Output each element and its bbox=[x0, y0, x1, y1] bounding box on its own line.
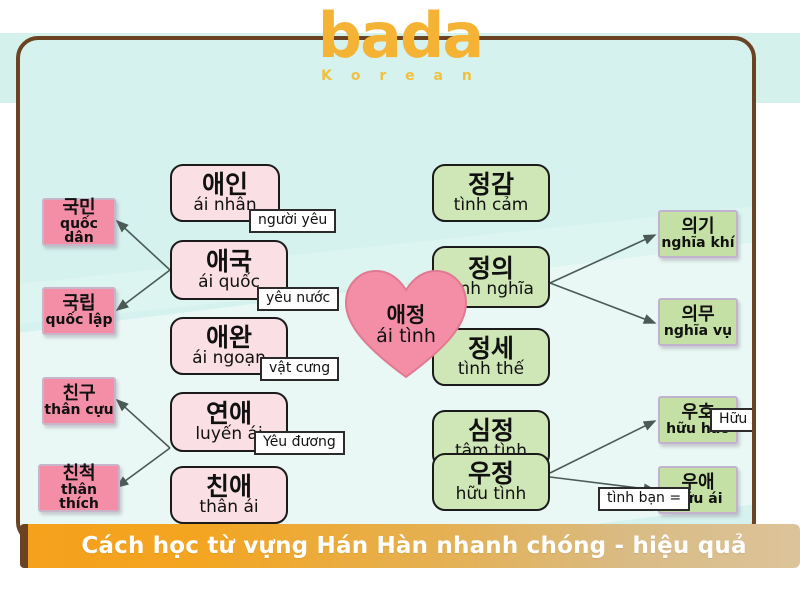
chip-right-1-kr: 의기 bbox=[681, 218, 714, 236]
node-right-1[interactable]: 정감 tình cảm bbox=[432, 164, 550, 222]
chip-left-4-kr: 친척 bbox=[62, 465, 95, 483]
node-left-5-vn: thân ái bbox=[199, 499, 258, 516]
bottom-banner: Cách học từ vựng Hán Hàn nhanh chóng - h… bbox=[28, 524, 800, 568]
chip-left-3[interactable]: 친구 thân cựu bbox=[42, 377, 116, 425]
tag-vat-cung[interactable]: vật cưng bbox=[260, 357, 339, 381]
chip-left-1-vn: quốc dân bbox=[44, 217, 114, 246]
node-left-1-vn: ái nhân bbox=[193, 197, 256, 214]
chip-left-2-kr: 국립 bbox=[62, 295, 95, 313]
chip-right-1[interactable]: 의기 nghĩa khí bbox=[658, 210, 738, 258]
node-right-1-vn: tình cảm bbox=[454, 197, 529, 214]
node-left-1-kr: 애인 bbox=[202, 172, 248, 198]
node-left-2-kr: 애국 bbox=[206, 249, 252, 275]
chip-left-2-vn: quốc lập bbox=[45, 313, 112, 327]
node-right-4-kr: 심정 bbox=[468, 418, 514, 444]
chip-left-2[interactable]: 국립 quốc lập bbox=[42, 287, 116, 335]
node-left-5[interactable]: 친애 thân ái bbox=[170, 466, 288, 524]
node-left-3-vn: ái ngoạn bbox=[192, 350, 266, 367]
chip-left-4[interactable]: 친척 thân thích bbox=[38, 464, 120, 512]
chip-right-2-kr: 의무 bbox=[681, 306, 714, 324]
node-left-5-kr: 친애 bbox=[206, 474, 252, 500]
chip-left-1-kr: 국민 bbox=[62, 199, 95, 217]
node-right-2-kr: 정의 bbox=[468, 256, 514, 282]
tag-tinh-ban[interactable]: tình bạn = bbox=[598, 487, 690, 511]
infographic-canvas: bada K o r e a n bbox=[0, 0, 800, 600]
mindmap-frame: 국민 quốc dân 국립 quốc lập 친구 thân cựu 친척 t… bbox=[16, 36, 756, 544]
chip-right-2-vn: nghĩa vụ bbox=[664, 324, 732, 338]
tag-yeu-nuoc[interactable]: yêu nước bbox=[257, 287, 339, 311]
chip-left-3-vn: thân cựu bbox=[44, 403, 113, 417]
node-left-3-kr: 애완 bbox=[206, 325, 252, 351]
chip-left-3-kr: 친구 bbox=[62, 385, 95, 403]
tag-nguoi-yeu[interactable]: người yêu bbox=[249, 209, 336, 233]
heart-icon bbox=[342, 264, 470, 382]
tag-yeu-duong[interactable]: Yêu đương bbox=[254, 431, 345, 455]
node-left-4-vn: luyến ái bbox=[195, 426, 262, 443]
node-right-5-kr: 우정 bbox=[468, 461, 514, 487]
node-right-1-kr: 정감 bbox=[468, 172, 514, 198]
node-right-5[interactable]: 우정 hữu tình bbox=[432, 453, 550, 511]
center-heart[interactable]: 애정 ái tình bbox=[342, 264, 470, 382]
node-right-5-vn: hữu tình bbox=[456, 486, 527, 503]
node-right-3-kr: 정세 bbox=[468, 336, 514, 362]
chip-left-1[interactable]: 국민 quốc dân bbox=[42, 198, 116, 246]
chip-right-1-vn: nghĩa khí bbox=[661, 236, 734, 250]
node-left-2-vn: ái quốc bbox=[198, 274, 260, 291]
chip-right-2[interactable]: 의무 nghĩa vụ bbox=[658, 298, 738, 346]
chip-left-4-vn: thân thích bbox=[40, 483, 118, 512]
banner-title: Cách học từ vựng Hán Hàn nhanh chóng - h… bbox=[81, 533, 746, 559]
node-left-4-kr: 연애 bbox=[206, 401, 252, 427]
tag-huu-nghi[interactable]: Hữu nghị bbox=[710, 408, 756, 432]
